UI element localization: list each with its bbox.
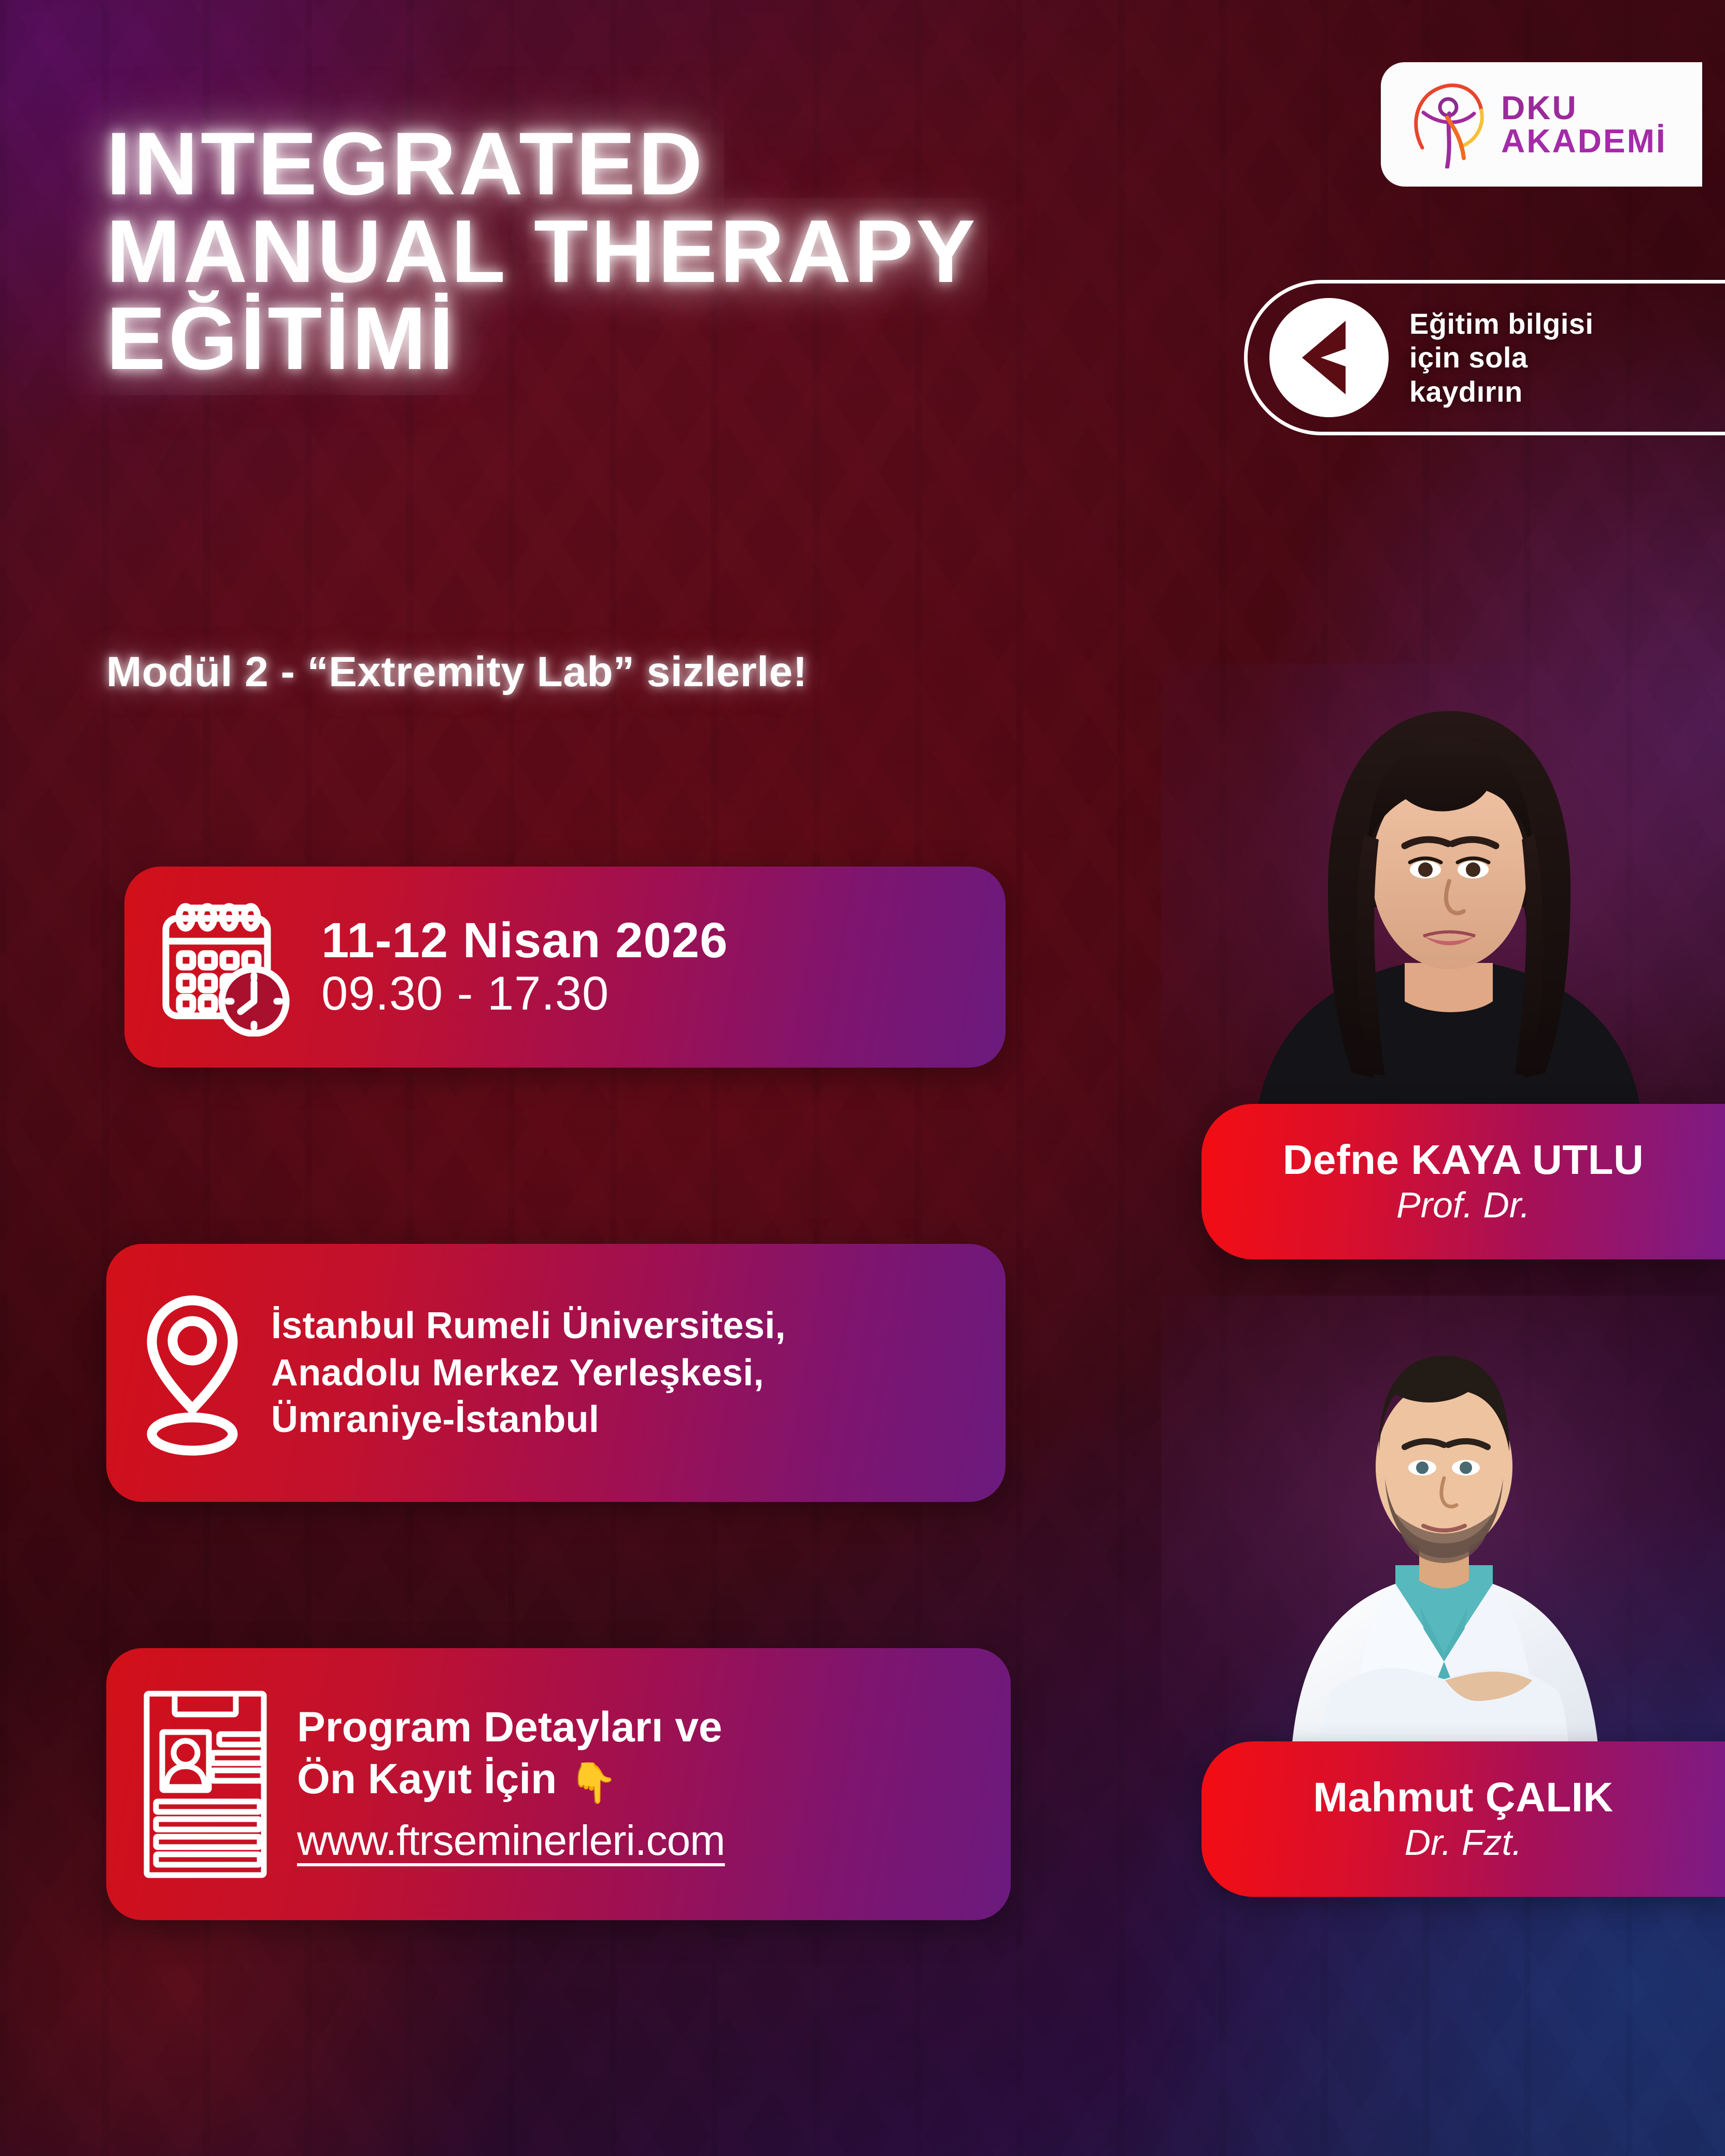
time-value: 09.30 - 17.30 (321, 967, 728, 1020)
location-line2: Anadolu Merkez Yerleşkesi, (271, 1350, 786, 1397)
subtitle: Modül 2 - “Extremity Lab” sizlerle! (106, 648, 1247, 697)
speaker-2-title: Dr. Fzt. (1405, 1822, 1522, 1863)
mahmut-calik-photo (1161, 1296, 1725, 1762)
swipe-line3: kaydırın (1409, 375, 1593, 409)
logo-line1: DKU (1501, 91, 1667, 124)
speaker-namebar-1: Defne KAYA UTLU Prof. Dr. (1201, 1104, 1725, 1259)
location-card: İstanbul Rumeli Üniversitesi, Anadolu Me… (106, 1244, 1006, 1502)
page-title: INTEGRATED MANUAL THERAPY EĞİTİMİ (106, 120, 1226, 382)
headline-line2: MANUAL THERAPY (106, 208, 1226, 295)
location-line3: Ümraniye-İstanbul (271, 1396, 786, 1443)
program-card[interactable]: Program Detayları ve Ön Kayıt İçin 👇 www… (106, 1648, 1011, 1920)
location-line1: İstanbul Rumeli Üniversitesi, (271, 1302, 786, 1350)
pointing-down-hand-icon: 👇 (569, 1761, 618, 1805)
headline-line3: EĞİTİMİ (106, 295, 1226, 382)
logo-line2: AKADEMİ (1501, 124, 1667, 158)
headline-line1: INTEGRATED (106, 120, 1226, 208)
swipe-left-badge[interactable]: Eğitim bilgisi için sola kaydırın (1244, 280, 1725, 435)
speaker-1-name: Defne KAYA UTLU (1283, 1138, 1644, 1182)
date-value: 11-12 Nisan 2026 (321, 914, 728, 968)
date-card: 11-12 Nisan 2026 09.30 - 17.30 (124, 867, 1006, 1068)
defne-kaya-utlu-photo (1161, 663, 1725, 1130)
program-line2: Ön Kayıt İçin (297, 1755, 557, 1803)
location-pin-icon (140, 1290, 244, 1456)
program-line1: Program Detayları ve (297, 1701, 725, 1753)
dku-akademi-logo[interactable]: DKU AKADEMİ (1381, 62, 1702, 187)
poster-root: DKU AKADEMİ Eğitim bilgisi için sola kay… (0, 0, 1725, 2156)
figure-logo-icon (1411, 80, 1488, 168)
swipe-line1: Eğitim bilgisi (1409, 307, 1593, 341)
chevron-left-icon (1269, 298, 1389, 417)
registration-url[interactable]: www.ftrseminerleri.com (297, 1815, 725, 1867)
speaker-2-name: Mahmut ÇALIK (1313, 1776, 1613, 1819)
swipe-line2: için sola (1409, 341, 1593, 375)
speaker-namebar-2: Mahmut ÇALIK Dr. Fzt. (1201, 1741, 1725, 1897)
registration-form-icon (140, 1689, 270, 1880)
calendar-clock-icon (159, 898, 294, 1037)
program-line2-wrap: Ön Kayıt İçin 👇 (297, 1753, 725, 1808)
speaker-1-title: Prof. Dr. (1396, 1185, 1530, 1225)
